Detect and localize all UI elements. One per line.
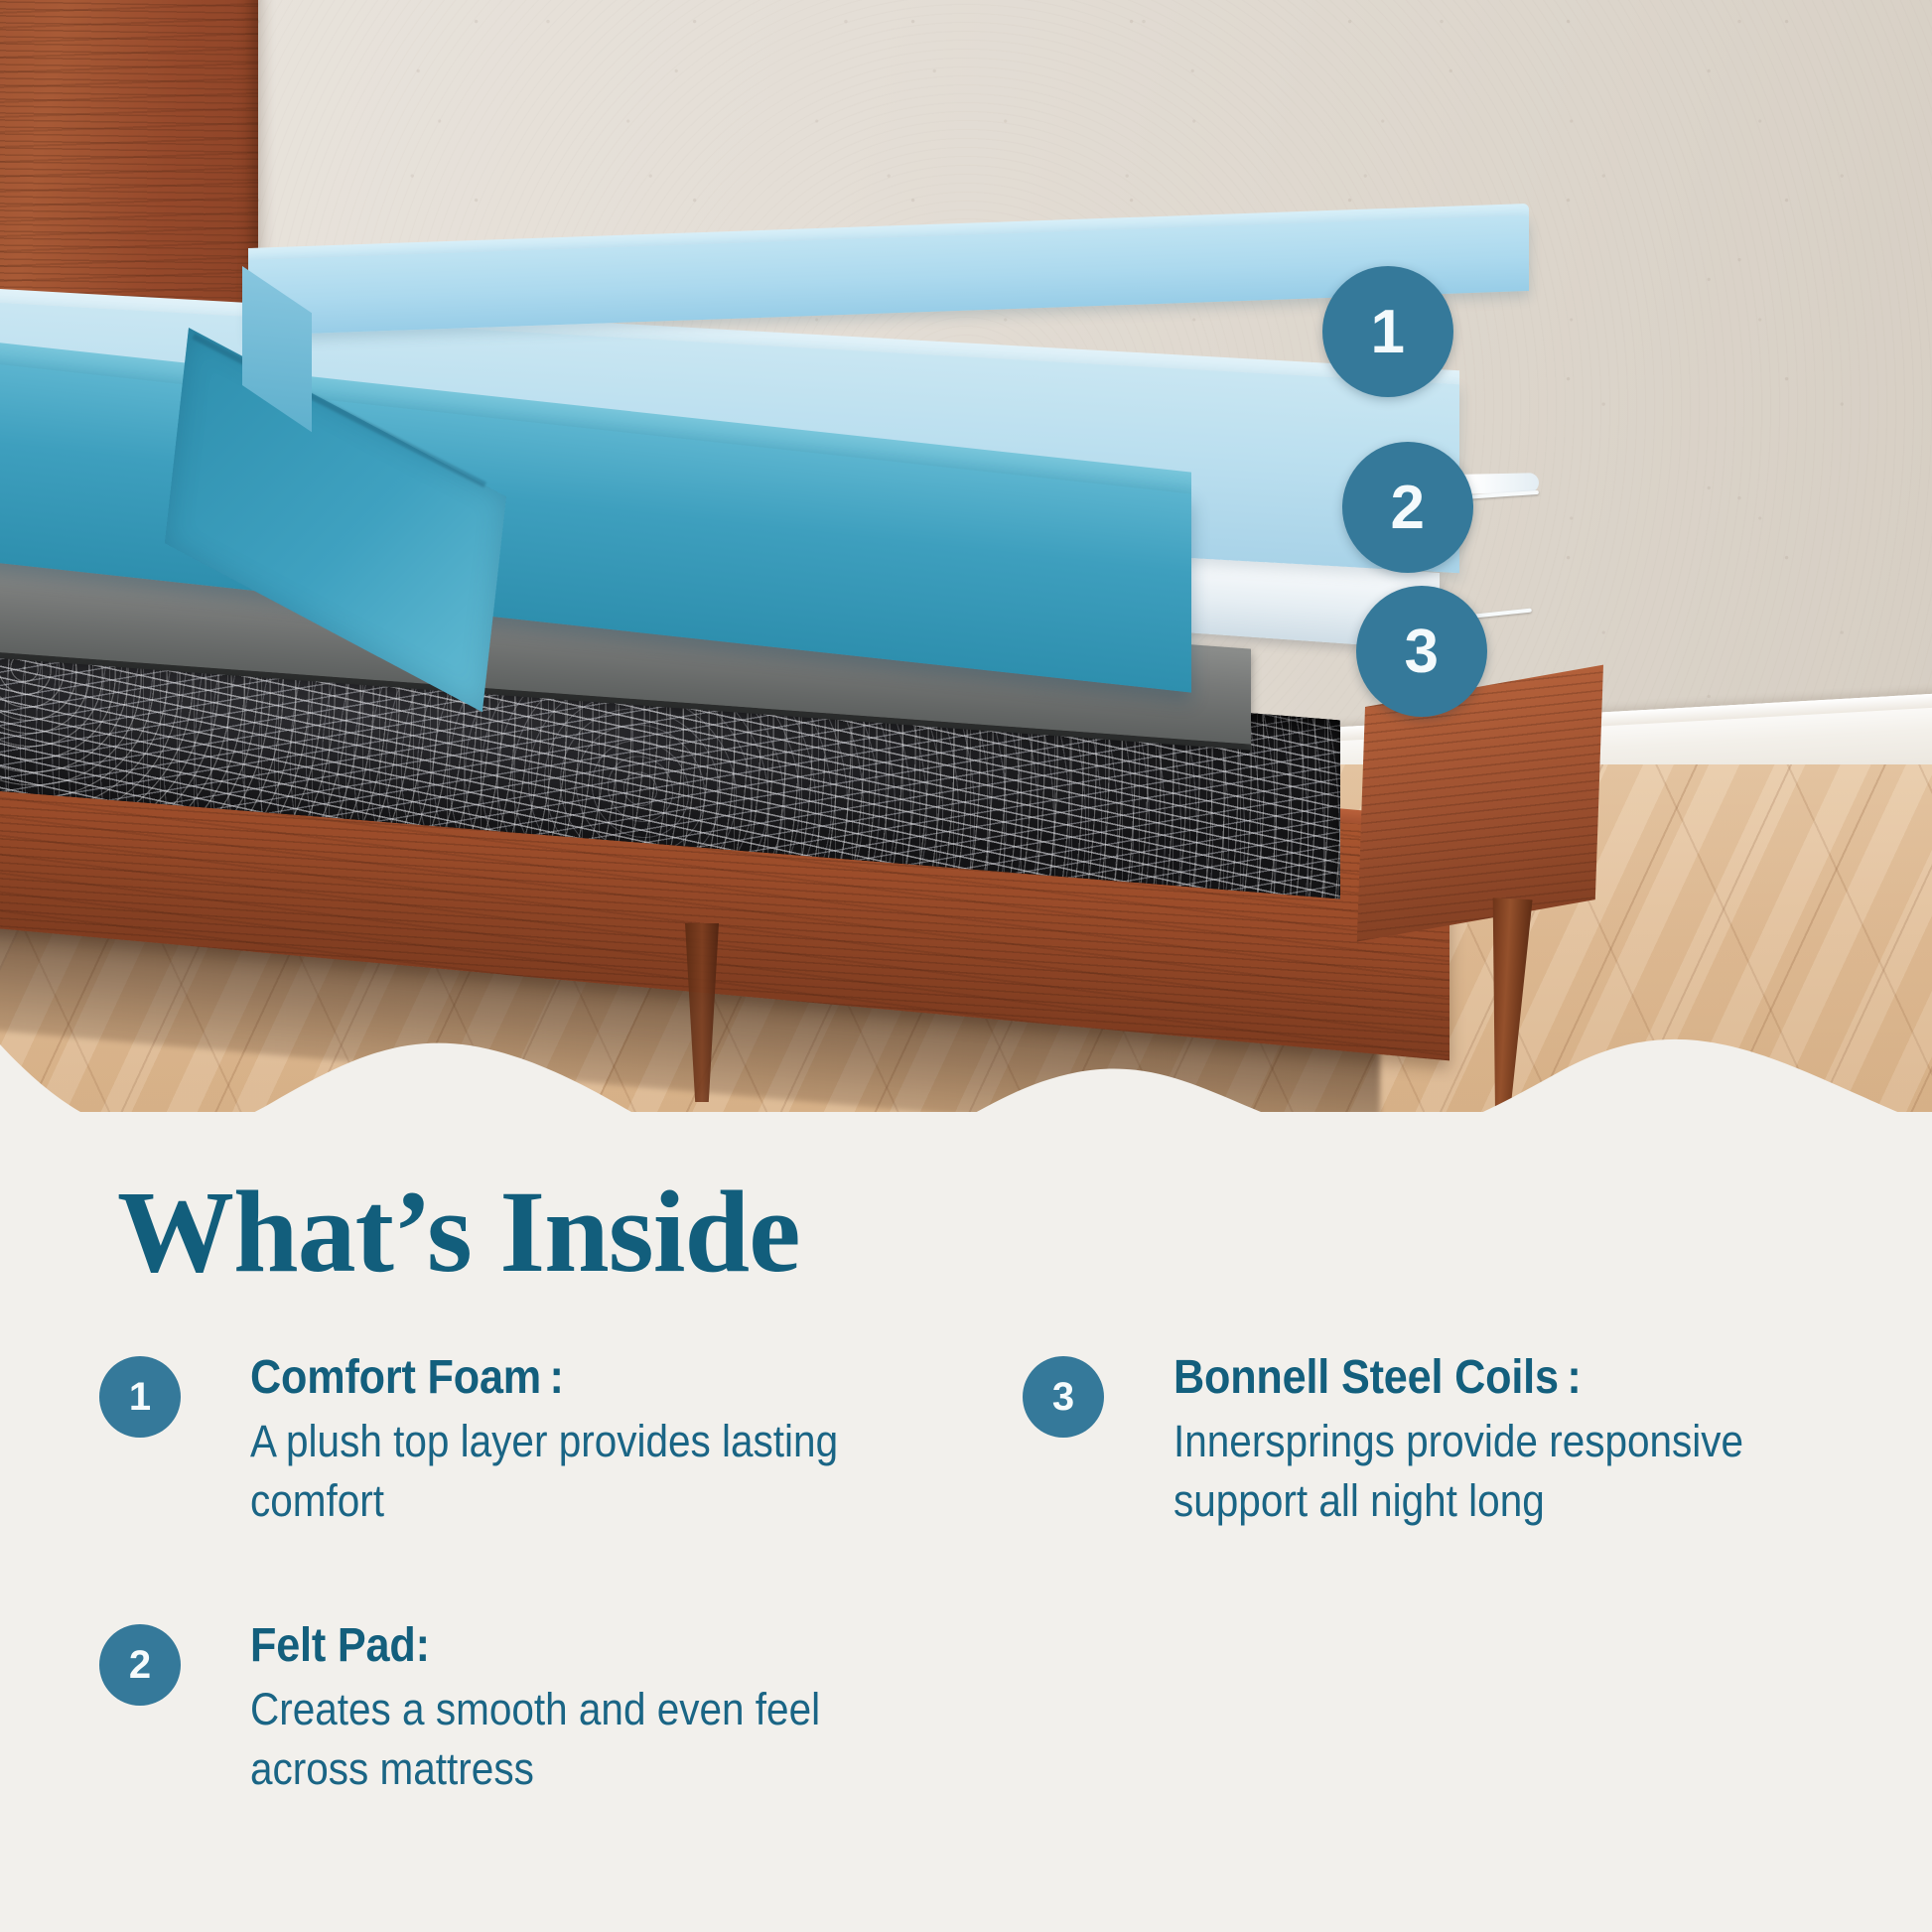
feature-badge-2: 2 [99, 1624, 181, 1706]
photo-badge-2-label: 2 [1391, 473, 1426, 543]
mattress-cutaway-photo: 1 2 3 [0, 0, 1932, 1112]
feature-badge-3: 3 [1023, 1356, 1104, 1438]
whats-inside-section: What’s Inside 1 Comfort Foam : A plush t… [0, 1112, 1932, 1932]
feature-badge-2-label: 2 [129, 1643, 151, 1688]
features-column-right: 3 Bonnell Steel Coils : Innersprings pro… [1023, 1350, 1896, 1618]
feature-desc-1: A plush top layer provides lasting comfo… [250, 1412, 865, 1532]
photo-badge-1[interactable]: 1 [1322, 266, 1453, 397]
wave-divider [0, 953, 1932, 1112]
photo-badge-3-label: 3 [1405, 617, 1440, 687]
photo-badge-1-label: 1 [1371, 297, 1406, 367]
photo-badge-3[interactable]: 3 [1356, 586, 1487, 717]
feature-item-bonnell-steel-coils: 3 Bonnell Steel Coils : Innersprings pro… [1023, 1350, 1896, 1531]
feature-desc-2: Creates a smooth and even feel across ma… [250, 1680, 865, 1800]
photo-badge-2[interactable]: 2 [1342, 442, 1473, 573]
feature-badge-3-label: 3 [1052, 1375, 1074, 1420]
feature-title-2: Felt Pad: [250, 1618, 865, 1674]
features-column-left: 1 Comfort Foam : A plush top layer provi… [99, 1350, 933, 1887]
feature-title-1: Comfort Foam : [250, 1350, 865, 1406]
feature-badge-1: 1 [99, 1356, 181, 1438]
feature-item-felt-pad: 2 Felt Pad: Creates a smooth and even fe… [99, 1618, 933, 1799]
page-title: What’s Inside [117, 1173, 800, 1291]
feature-item-comfort-foam: 1 Comfort Foam : A plush top layer provi… [99, 1350, 933, 1531]
infographic-card: 1 2 3 What’s Inside 1 Comfort Foam : A p… [0, 0, 1932, 1932]
feature-desc-3: Innersprings provide responsive support … [1173, 1412, 1824, 1532]
feature-title-3: Bonnell Steel Coils : [1173, 1350, 1824, 1406]
feature-badge-1-label: 1 [129, 1375, 151, 1420]
